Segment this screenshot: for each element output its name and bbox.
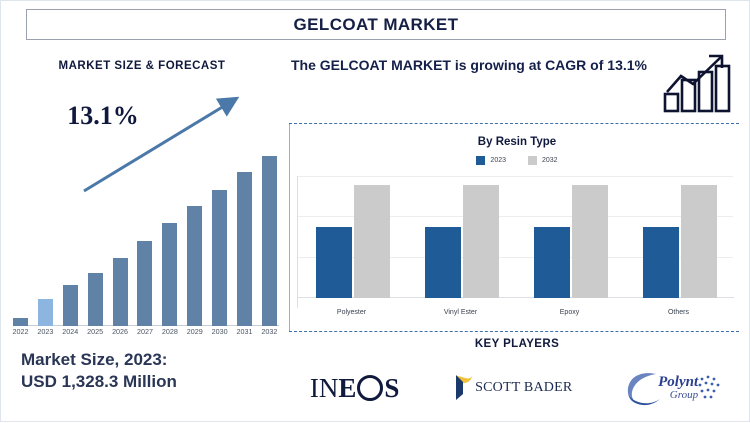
market-size-bar-chart: [9, 141, 281, 326]
year-label: 2024: [60, 327, 81, 341]
divider-vertical: [289, 123, 290, 331]
market-size-heading: MARKET SIZE & FORECAST: [1, 60, 283, 72]
polynt-line-2: Group: [658, 390, 698, 401]
cagr-statement: The GELCOAT MARKET is growing at CAGR of…: [291, 56, 663, 75]
bar-series: [9, 146, 281, 326]
resin-chart-title: By Resin Type: [283, 136, 750, 148]
resin-category-labels: Polyester Vinyl Ester Epoxy Others: [297, 309, 733, 316]
bar-vinyl-ester-2032: [463, 185, 499, 298]
bar-2032: [262, 156, 277, 326]
year-label: 2030: [209, 327, 230, 341]
bar-2025: [88, 273, 103, 326]
scott-bader-sail-icon: [453, 373, 475, 403]
bar-2030: [212, 190, 227, 326]
bar-2026: [113, 258, 128, 326]
page-title-box: GELCOAT MARKET: [26, 9, 726, 40]
year-label: 2026: [110, 327, 131, 341]
bar-polyester-2032: [354, 185, 390, 298]
ineos-logo: INES: [310, 360, 400, 416]
year-label: 2027: [134, 327, 155, 341]
year-label: 2028: [159, 327, 180, 341]
bar-2022: [13, 318, 28, 326]
year-label: 2031: [234, 327, 255, 341]
polynt-globe-icon: [694, 371, 724, 405]
resin-type-bar-chart: [297, 176, 733, 308]
market-size-value: Market Size, 2023: USD 1,328.3 Million: [21, 349, 271, 393]
legend-swatch-2023: [476, 156, 485, 165]
ineos-wordmark: INES: [310, 373, 400, 404]
bar-2027: [137, 241, 152, 326]
year-label: 2029: [184, 327, 205, 341]
bar-group-epoxy: [534, 176, 608, 298]
polynt-line-1: Polynt: [658, 375, 698, 390]
bar-polyester-2023: [316, 227, 352, 298]
resin-chart-legend: 2023 2032: [283, 156, 750, 165]
bar-2023: [38, 299, 53, 326]
bar-others-2023: [643, 227, 679, 298]
legend-item-2023: 2023: [476, 156, 506, 165]
bar-vinyl-ester-2023: [425, 227, 461, 298]
bar-group-others: [643, 176, 717, 298]
category-label-vinyl-ester: Vinyl Ester: [411, 309, 511, 316]
bar-group-polyester: [316, 176, 390, 298]
polynt-group-logo: Polynt Group: [626, 360, 724, 416]
infographic-page: GELCOAT MARKET MARKET SIZE & FORECAST 13…: [0, 0, 750, 422]
legend-label-2023: 2023: [490, 157, 506, 164]
legend-swatch-2032: [528, 156, 537, 165]
resin-bar-groups: [298, 176, 734, 298]
key-players-logos: INES SCOTT BADER Polynt Group: [283, 358, 750, 418]
category-label-others: Others: [629, 309, 729, 316]
bar-epoxy-2023: [534, 227, 570, 298]
bar-2028: [162, 223, 177, 326]
key-players-title: KEY PLAYERS: [283, 338, 750, 350]
bar-epoxy-2032: [572, 185, 608, 298]
ineos-o-circle-icon: [357, 375, 383, 401]
bar-others-2032: [681, 185, 717, 298]
ineos-part-2: E: [338, 373, 356, 404]
ineos-part-1: IN: [310, 373, 339, 404]
scott-bader-wordmark: SCOTT BADER: [475, 380, 572, 396]
bar-group-vinyl-ester: [425, 176, 499, 298]
legend-item-2032: 2032: [528, 156, 558, 165]
year-label: 2025: [85, 327, 106, 341]
bar-2029: [187, 206, 202, 326]
market-size-line-2: USD 1,328.3 Million: [21, 371, 271, 393]
category-label-polyester: Polyester: [302, 309, 402, 316]
scott-bader-logo: SCOTT BADER: [453, 360, 572, 416]
year-label: 2023: [35, 327, 56, 341]
category-label-epoxy: Epoxy: [520, 309, 620, 316]
bar-2024: [63, 285, 78, 326]
bar-2031: [237, 172, 252, 326]
polynt-wordmark: Polynt Group: [658, 375, 698, 401]
year-label: 2022: [10, 327, 31, 341]
divider-top: [289, 123, 739, 124]
right-panel: The GELCOAT MARKET is growing at CAGR of…: [283, 46, 750, 423]
ineos-part-3: S: [384, 373, 399, 404]
year-label: 2032: [259, 327, 280, 341]
divider-bottom: [289, 331, 739, 332]
page-title: GELCOAT MARKET: [294, 15, 459, 35]
year-axis-labels: 2022 2023 2024 2025 2026 2027 2028 2029 …: [9, 327, 281, 341]
market-size-line-1: Market Size, 2023:: [21, 349, 271, 371]
bar-chart-arrow-icon: [663, 52, 735, 114]
market-size-panel: MARKET SIZE & FORECAST 13.1%: [1, 46, 283, 423]
legend-label-2032: 2032: [542, 157, 558, 164]
